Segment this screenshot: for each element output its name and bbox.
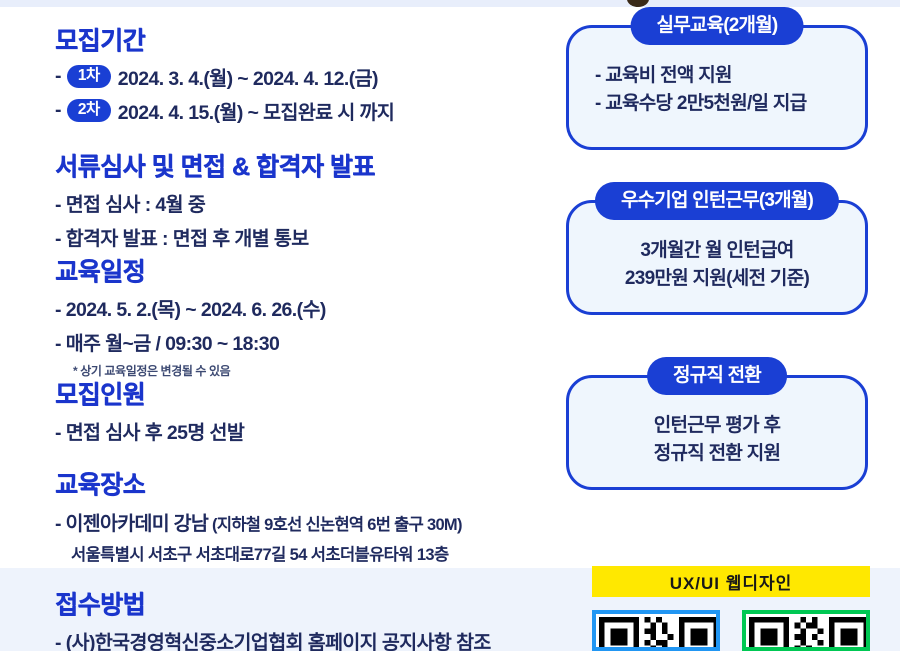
recruit-count-title: 모집인원 bbox=[55, 375, 244, 411]
recruit-period-round2-row: - 2차 2024. 4. 15.(월) ~ 모집완료 시 까지 bbox=[55, 96, 394, 125]
education-place-name: 이젠아카데미 강남 bbox=[66, 513, 209, 535]
card-practical-training-line-2: - 교육수당 2만5천원/일 지급 bbox=[595, 90, 865, 118]
card-internship-line-1: 3개월간 월 인턴급여 bbox=[569, 237, 865, 265]
card-fulltime-conversion-line-2: 정규직 전환 지원 bbox=[569, 440, 865, 468]
card-fulltime-conversion-line-1: 인턴근무 평가 후 bbox=[569, 412, 865, 440]
education-place-title: 교육장소 bbox=[55, 465, 462, 501]
education-schedule-title: 교육일정 bbox=[55, 252, 326, 288]
section-education-place: 교육장소 - 이젠아카데미 강남 (지하철 9호선 신논현역 6번 출구 30M… bbox=[55, 465, 462, 565]
course-badge: UX/UI 웹디자인 bbox=[592, 566, 870, 597]
top-accent-band bbox=[0, 0, 900, 7]
recruit-period-round1-badge: 1차 bbox=[67, 65, 111, 88]
section-education-schedule: 교육일정 - 2024. 5. 2.(목) ~ 2024. 6. 26.(수) … bbox=[55, 252, 326, 379]
recruit-period-round1-text: 2024. 3. 4.(월) ~ 2024. 4. 12.(금) bbox=[118, 62, 378, 91]
education-schedule-line-1: - 2024. 5. 2.(목) ~ 2024. 6. 26.(수) bbox=[55, 293, 326, 322]
poster-root: 모집기간 - 1차 2024. 3. 4.(월) ~ 2024. 4. 12.(… bbox=[0, 0, 900, 651]
education-place-address: 서울특별시 서초구 서초대로77길 54 서초더블유타워 13층 bbox=[71, 541, 462, 565]
apply-method-title: 접수방법 bbox=[55, 585, 491, 621]
card-internship-line-2: 239만원 지원(세전 기준) bbox=[569, 265, 865, 293]
education-schedule-line-2: - 매주 월~금 / 09:30 ~ 18:30 bbox=[55, 327, 326, 356]
section-recruit-count: 모집인원 - 면접 심사 후 25명 선발 bbox=[55, 375, 244, 445]
card-fulltime-conversion-header: 정규직 전환 bbox=[647, 357, 787, 395]
recruit-period-round2-text: 2024. 4. 15.(월) ~ 모집완료 시 까지 bbox=[118, 96, 394, 125]
recruit-period-round2-badge: 2차 bbox=[67, 99, 111, 122]
recruit-period-round1-row: - 1차 2024. 3. 4.(월) ~ 2024. 4. 12.(금) bbox=[55, 62, 394, 91]
screening-line-1: - 면접 심사 : 4월 중 bbox=[55, 188, 375, 217]
apply-method-line-1: - (사)한국경영혁신중소기업협회 홈페이지 공지사항 참조 bbox=[55, 626, 491, 651]
card-practical-training-header: 실무교육(2개월) bbox=[631, 7, 804, 45]
recruit-period-title: 모집기간 bbox=[55, 21, 394, 57]
recruit-period-round2-dash: - bbox=[55, 99, 61, 122]
qr-code-green-graphic bbox=[749, 617, 869, 651]
screening-title: 서류심사 및 면접 & 합격자 발표 bbox=[55, 147, 375, 183]
card-practical-training-line-1: - 교육비 전액 지원 bbox=[595, 62, 865, 90]
education-place-detail: (지하철 9호선 신논현역 6번 출구 30M) bbox=[208, 516, 462, 534]
card-internship-header: 우수기업 인턴근무(3개월) bbox=[595, 182, 839, 220]
qr-code-row bbox=[592, 610, 870, 651]
recruit-count-line-1: - 면접 심사 후 25명 선발 bbox=[55, 416, 244, 445]
education-place-dash: - bbox=[55, 513, 66, 535]
left-column: 모집기간 - 1차 2024. 3. 4.(월) ~ 2024. 4. 12.(… bbox=[0, 7, 560, 651]
card-internship: 우수기업 인턴근무(3개월) 3개월간 월 인턴급여 239만원 지원(세전 기… bbox=[566, 200, 868, 315]
section-recruit-period: 모집기간 - 1차 2024. 3. 4.(월) ~ 2024. 4. 12.(… bbox=[55, 21, 394, 125]
section-screening: 서류심사 및 면접 & 합격자 발표 - 면접 심사 : 4월 중 - 합격자 … bbox=[55, 147, 375, 251]
qr-code-blue-graphic bbox=[599, 617, 719, 651]
screening-line-2: - 합격자 발표 : 면접 후 개별 통보 bbox=[55, 222, 375, 251]
recruit-period-round1-dash: - bbox=[55, 65, 61, 88]
qr-code-green[interactable] bbox=[742, 610, 870, 651]
card-fulltime-conversion: 정규직 전환 인턴근무 평가 후 정규직 전환 지원 bbox=[566, 375, 868, 490]
section-apply-method: 접수방법 - (사)한국경영혁신중소기업협회 홈페이지 공지사항 참조 bbox=[55, 585, 491, 651]
card-practical-training: 실무교육(2개월) - 교육비 전액 지원 - 교육수당 2만5천원/일 지급 bbox=[566, 25, 868, 150]
education-place-main-row: - 이젠아카데미 강남 (지하철 9호선 신논현역 6번 출구 30M) bbox=[55, 507, 462, 536]
qr-code-blue[interactable] bbox=[592, 610, 720, 651]
